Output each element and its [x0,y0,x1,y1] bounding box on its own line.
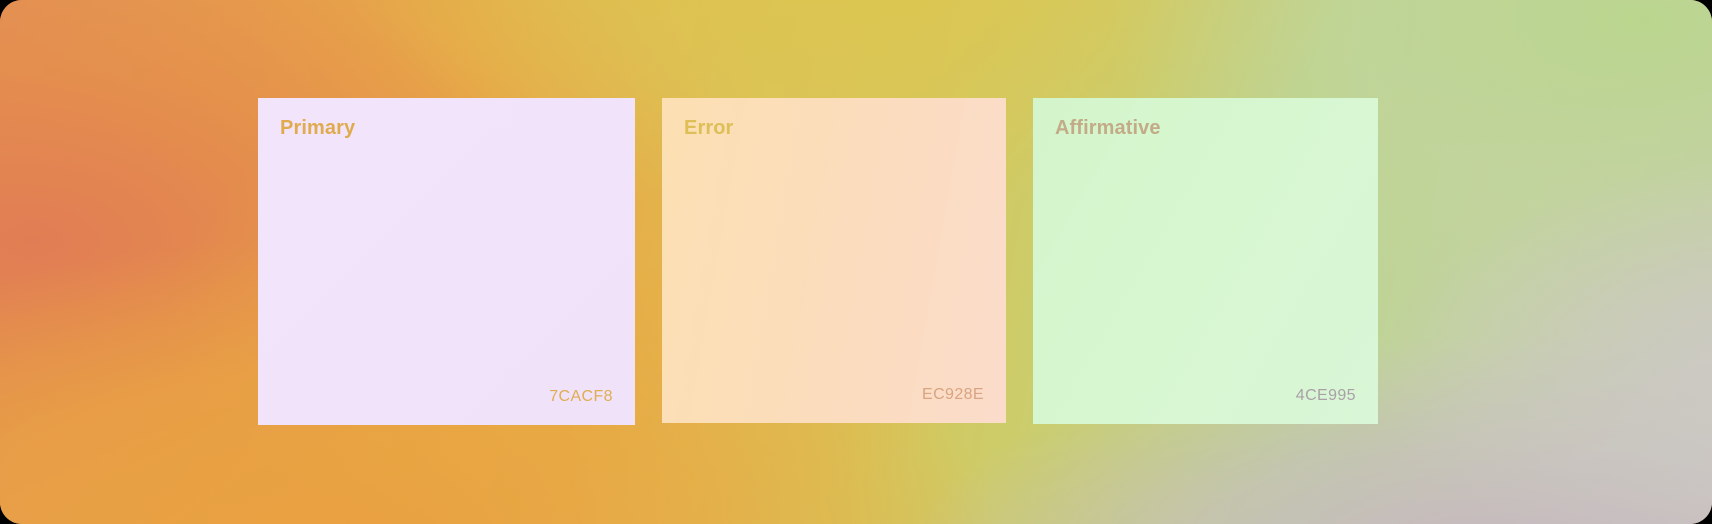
swatch-hex-affirmative: 4CE995 [1296,388,1356,404]
color-palette-canvas: Primary 7CACF8 Error EC928E Affirmative … [0,0,1712,524]
swatch-card-error[interactable]: Error EC928E [662,98,1006,423]
swatch-hex-primary: 7CACF8 [549,389,613,405]
swatch-label-affirmative: Affirmative [1055,118,1356,138]
swatch-label-primary: Primary [280,118,613,138]
swatch-card-affirmative[interactable]: Affirmative 4CE995 [1033,98,1378,424]
swatch-label-error: Error [684,118,984,138]
swatch-card-primary[interactable]: Primary 7CACF8 [258,98,635,425]
swatch-row: Primary 7CACF8 Error EC928E Affirmative … [258,98,1378,425]
swatch-hex-error: EC928E [922,387,984,403]
